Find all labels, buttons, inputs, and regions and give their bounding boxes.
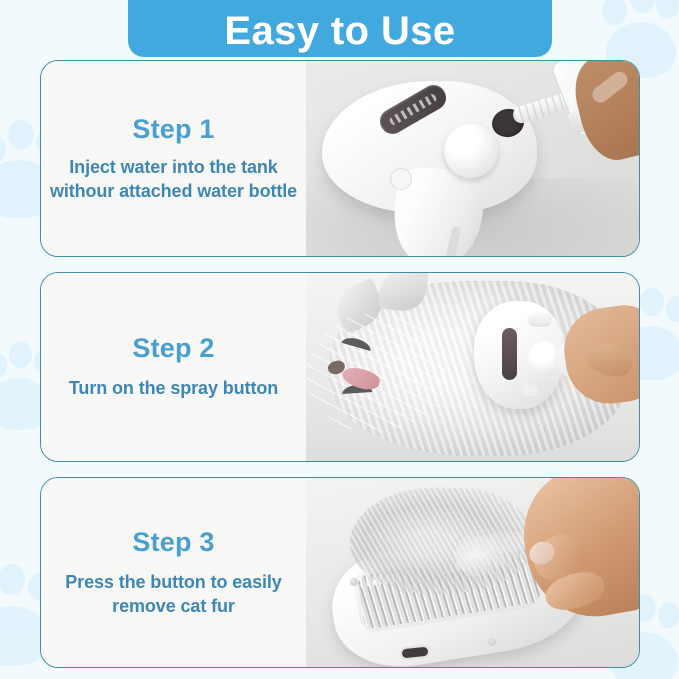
step-3-photo — [306, 478, 639, 667]
step-1-photo — [306, 61, 639, 256]
step-1-heading: Step 1 — [132, 114, 214, 145]
step-card-1: Step 1 Inject water into the tank withou… — [40, 60, 640, 257]
device-screw — [488, 638, 496, 646]
device-secondary-button — [522, 385, 538, 396]
step-2-description: Turn on the spray button — [69, 377, 278, 401]
device-power-button — [390, 168, 412, 190]
step-card-2: Step 2 Turn on the spray button — [40, 272, 640, 462]
step-1-description: Inject water into the tank withour attac… — [49, 156, 298, 204]
finger-crease — [589, 69, 630, 106]
step-3-heading: Step 3 — [132, 527, 214, 558]
step-3-text-panel: Step 3 Press the button to easily remove… — [41, 478, 306, 667]
page-title: Easy to Use — [224, 11, 455, 51]
step-2-photo — [306, 273, 639, 461]
step-3-description: Press the button to easily remove cat fu… — [49, 571, 298, 619]
step-card-3: Step 3 Press the button to easily remove… — [40, 477, 640, 668]
device-screw — [350, 578, 358, 586]
step-1-text-panel: Step 1 Inject water into the tank withou… — [41, 61, 306, 256]
cat-whiskers — [306, 313, 446, 433]
step-2-text-panel: Step 2 Turn on the spray button — [41, 273, 306, 461]
device-display-screen — [502, 328, 517, 380]
device-knob — [444, 124, 498, 178]
header-banner: Easy to Use — [128, 0, 552, 57]
spray-button — [528, 313, 552, 327]
step-2-heading: Step 2 — [132, 333, 214, 364]
